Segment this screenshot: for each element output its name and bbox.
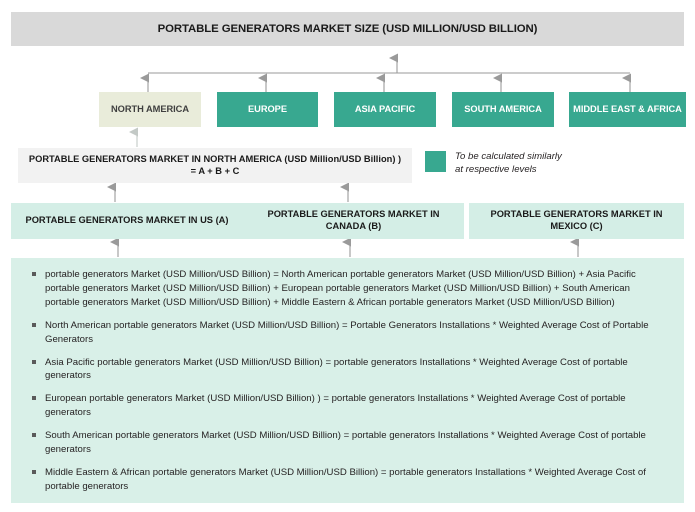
region-box-north-america[interactable]: NORTH AMERICA: [99, 92, 201, 127]
legend-text: To be calculated similarly at respective…: [455, 150, 562, 176]
legend-swatch-icon: [425, 151, 446, 172]
note-item: European portable generators Market (USD…: [31, 392, 666, 420]
bullet-icon: [32, 433, 36, 437]
note-item: North American portable generators Marke…: [31, 319, 666, 347]
country-box-canada[interactable]: PORTABLE GENERATORS MARKET IN CANADA (B): [243, 203, 464, 239]
region-label-south-america: SOUTH AMERICA: [464, 104, 542, 115]
region-label-europe: EUROPE: [248, 104, 287, 115]
country-label-us: PORTABLE GENERATORS MARKET IN US (A): [26, 215, 229, 227]
page-title: PORTABLE GENERATORS MARKET SIZE (USD MIL…: [158, 23, 538, 36]
legend: To be calculated similarly at respective…: [425, 150, 562, 176]
region-box-asia-pacific[interactable]: ASIA PACIFIC: [334, 92, 436, 127]
bullet-icon: [32, 360, 36, 364]
connector-region-risers: [148, 78, 630, 92]
bullet-icon: [32, 470, 36, 474]
market-size-title-bar: PORTABLE GENERATORS MARKET SIZE (USD MIL…: [11, 12, 684, 46]
note-text: European portable generators Market (USD…: [45, 393, 626, 418]
note-text: North American portable generators Marke…: [45, 320, 649, 345]
diagram-canvas: PORTABLE GENERATORS MARKET SIZE (USD MIL…: [0, 0, 695, 512]
region-label-middle-east-africa: MIDDLE EAST & AFRICA: [573, 104, 682, 115]
bullet-icon: [32, 396, 36, 400]
country-box-us[interactable]: PORTABLE GENERATORS MARKET IN US (A): [11, 203, 243, 239]
note-item: Middle Eastern & African portable genera…: [31, 466, 666, 494]
region-box-middle-east-africa[interactable]: MIDDLE EAST & AFRICA: [569, 92, 686, 127]
note-item: Asia Pacific portable generators Market …: [31, 356, 666, 384]
north-america-formula-box[interactable]: PORTABLE GENERATORS MARKET IN NORTH AMER…: [18, 148, 412, 183]
note-item: South American portable generators Marke…: [31, 429, 666, 457]
connector-notes-to-country: [118, 242, 578, 257]
region-label-north-america: NORTH AMERICA: [111, 104, 189, 115]
bullet-icon: [32, 272, 36, 276]
note-text: Middle Eastern & African portable genera…: [45, 467, 646, 492]
note-text: South American portable generators Marke…: [45, 430, 646, 455]
note-item: portable generators Market (USD Million/…: [31, 268, 666, 310]
country-box-mexico[interactable]: PORTABLE GENERATORS MARKET IN MEXICO (C): [469, 203, 684, 239]
region-box-south-america[interactable]: SOUTH AMERICA: [452, 92, 554, 127]
methodology-notes-panel: portable generators Market (USD Million/…: [11, 258, 684, 503]
note-text: Asia Pacific portable generators Market …: [45, 357, 628, 382]
north-america-formula-text: PORTABLE GENERATORS MARKET IN NORTH AMER…: [28, 154, 402, 178]
bullet-icon: [32, 323, 36, 327]
note-text: portable generators Market (USD Million/…: [45, 269, 636, 308]
country-label-canada: PORTABLE GENERATORS MARKET IN CANADA (B): [249, 209, 458, 232]
country-label-mexico: PORTABLE GENERATORS MARKET IN MEXICO (C): [475, 209, 678, 232]
region-label-asia-pacific: ASIA PACIFIC: [355, 104, 415, 115]
connector-country-to-na: [115, 187, 348, 202]
region-box-europe[interactable]: EUROPE: [217, 92, 318, 127]
